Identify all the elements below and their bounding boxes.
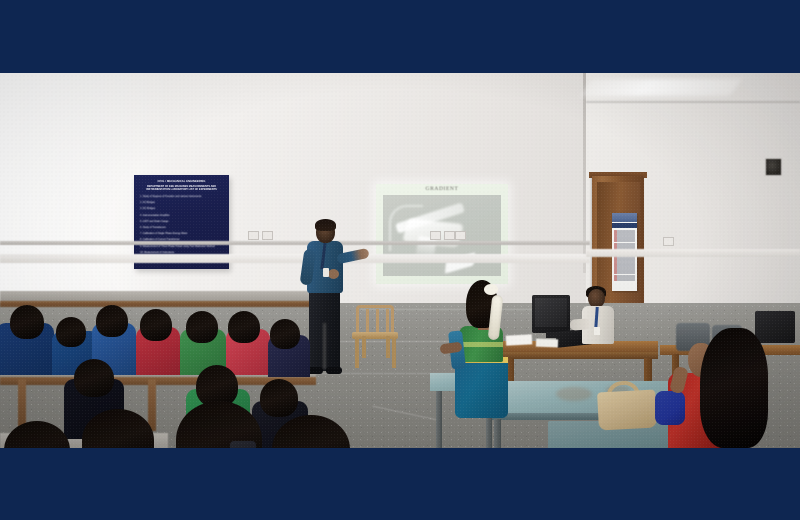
handbag[interactable] (597, 390, 657, 431)
classroom-seminar-photo: CIVIL / MECHANICAL ENGINEERING DEPARTMEN… (0, 73, 800, 448)
chair-slat (376, 309, 379, 333)
bottom-frame-band (0, 448, 800, 520)
backpack-strap (230, 441, 256, 448)
chair-leg (392, 338, 396, 368)
audience-head (140, 309, 172, 341)
wall-socket-icon (455, 231, 466, 240)
wall-socket-icon (444, 231, 455, 240)
projection-screen: GRADIENT (376, 184, 508, 284)
hair-long (700, 328, 768, 448)
calendar-banner (612, 213, 637, 222)
wall-ledge-upper (0, 241, 590, 245)
audience-head (74, 359, 114, 397)
chair-leg (355, 338, 359, 368)
chair-leg (386, 336, 390, 358)
wall-socket-icon (430, 231, 441, 240)
leg-separation (323, 323, 326, 369)
audience-head (270, 319, 300, 349)
id-badge (594, 327, 600, 335)
wall-ledge-right (586, 249, 800, 257)
shoe (326, 367, 342, 374)
wall-socket-icon (262, 231, 273, 240)
chair-leg (362, 336, 366, 358)
slide-content-area (383, 195, 501, 276)
table-stain (556, 387, 592, 401)
hair (315, 219, 336, 231)
wall-mounted-object-icon (765, 158, 782, 176)
calendar-month-band (612, 223, 637, 228)
ceiling-edge-line (586, 101, 800, 103)
blouse-stripe (459, 342, 503, 347)
top-frame-band (0, 0, 800, 73)
audience-head (228, 311, 260, 343)
paper-sheet (536, 339, 558, 348)
poster-heading: CIVIL / MECHANICAL ENGINEERING (140, 180, 223, 184)
paper-sheet (506, 334, 532, 345)
slide-title: GRADIENT (376, 186, 508, 192)
audience-head (96, 305, 128, 337)
computer-monitor (532, 295, 570, 333)
screenshot-canvas: CIVIL / MECHANICAL ENGINEERING DEPARTMEN… (0, 0, 800, 520)
calendar-date-grid (614, 230, 635, 288)
audience-head (260, 379, 298, 417)
wall-ledge-lower (0, 254, 590, 263)
sleeve-blue (655, 391, 685, 425)
computer-desk-apron (498, 352, 658, 359)
chair-slat (366, 309, 369, 333)
hand (328, 269, 339, 279)
ceiling-tube-light-icon (580, 79, 741, 96)
table-leg-steel (436, 391, 442, 448)
poster-experiment-list: 1. Study of Degrees of Freedom and vario… (140, 194, 223, 256)
jasmine-flower-cluster-icon (484, 284, 498, 295)
second-monitor (755, 311, 795, 343)
poster-subheading: DEPARTMENT OF EEE MACHINES MEASUREMENTS … (140, 185, 223, 192)
chair-slat (386, 309, 389, 333)
bench-row-back-edge (0, 301, 312, 307)
monitor-screen (535, 298, 567, 327)
table-leg-steel (494, 419, 501, 448)
arm (570, 318, 591, 330)
wall-socket-icon (248, 231, 259, 240)
bench-leg (148, 379, 156, 431)
audience-head (186, 311, 218, 343)
wall-socket-icon (663, 237, 674, 246)
audience-head (56, 317, 86, 347)
id-badge (323, 268, 329, 277)
audience-head (10, 305, 44, 339)
